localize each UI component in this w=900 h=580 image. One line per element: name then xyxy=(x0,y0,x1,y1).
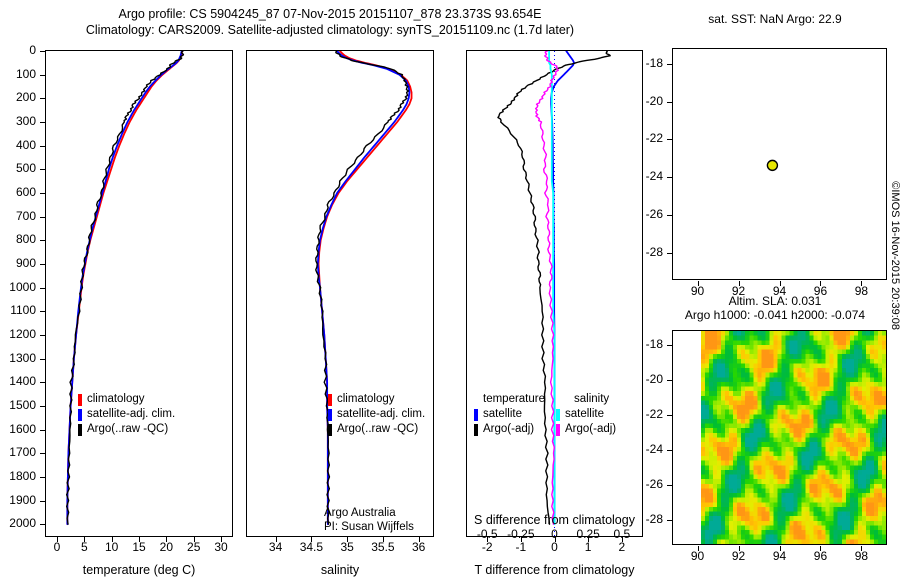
y-tick-label: 1700 xyxy=(0,445,36,459)
location-map-panel xyxy=(672,48,887,280)
y-tick-label: -24 xyxy=(623,169,663,183)
note-line-1: Argo Australia xyxy=(324,506,414,520)
sla-title-line-1: Altim. SLA: 0.031 xyxy=(665,294,885,308)
y-tick xyxy=(40,406,45,407)
y-tick-label: -28 xyxy=(623,245,663,259)
y-tick-label: 1400 xyxy=(0,374,36,388)
y-tick xyxy=(667,215,672,216)
y-tick xyxy=(667,450,672,451)
y-tick xyxy=(667,177,672,178)
y-tick-label: 600 xyxy=(0,185,36,199)
x-tick-label-top: 0.5 xyxy=(596,527,648,541)
legend-swatch xyxy=(328,424,332,436)
legend-entry-salinity: satellite xyxy=(556,407,604,422)
legend-entry: Argo(..raw -QC) xyxy=(328,422,425,437)
legend-swatch xyxy=(328,409,332,421)
legend-swatch xyxy=(474,424,478,436)
y-tick-label: -18 xyxy=(623,56,663,70)
y-tick-label: 900 xyxy=(0,256,36,270)
legend-label: Argo(..raw -QC) xyxy=(87,422,168,437)
y-tick-label: 500 xyxy=(0,161,36,175)
y-tick-label: -28 xyxy=(623,512,663,526)
legend-entry: Argo(..raw -QC) xyxy=(78,422,175,437)
y-tick xyxy=(667,345,672,346)
legend-entry: satellitesatellite xyxy=(474,407,616,422)
x-tick-label: 36 xyxy=(393,540,445,554)
y-tick xyxy=(40,311,45,312)
legend-entry-temperature: Argo(-adj) xyxy=(474,422,556,437)
legend-label: Argo(-adj) xyxy=(565,422,616,437)
difference-legend: temperaturesalinitysatellitesatelliteArg… xyxy=(474,392,616,437)
y-tick-label: 0 xyxy=(0,43,36,57)
y-tick xyxy=(40,524,45,525)
y-tick xyxy=(40,382,45,383)
y-tick xyxy=(667,64,672,65)
title-line-2: Climatology: CARS2009. Satellite-adjuste… xyxy=(0,22,660,38)
legend-heading-temperature: temperature xyxy=(474,392,565,407)
y-tick xyxy=(40,335,45,336)
y-tick xyxy=(40,169,45,170)
y-tick-label: 200 xyxy=(0,90,36,104)
y-tick-label: 1500 xyxy=(0,398,36,412)
legend-headings: temperaturesalinity xyxy=(474,392,616,407)
y-tick xyxy=(40,122,45,123)
temperature-profile-plot xyxy=(46,51,232,536)
legend-swatch xyxy=(556,409,560,421)
legend-label: climatology xyxy=(337,392,395,407)
y-tick xyxy=(40,217,45,218)
y-tick-label: 1800 xyxy=(0,469,36,483)
y-tick xyxy=(40,193,45,194)
y-tick-label: 1600 xyxy=(0,422,36,436)
y-tick-label: 1200 xyxy=(0,327,36,341)
y-tick xyxy=(40,430,45,431)
legend-swatch xyxy=(78,394,82,406)
y-tick-label: 300 xyxy=(0,114,36,128)
x-tick-label: 2 xyxy=(596,540,648,554)
legend-entry: Argo(-adj)Argo(-adj) xyxy=(474,422,616,437)
y-tick xyxy=(40,501,45,502)
y-tick-label: -26 xyxy=(623,207,663,221)
sla-title-line-2: Argo h1000: -0.041 h2000: -0.074 xyxy=(665,308,885,322)
y-tick-label: -22 xyxy=(623,407,663,421)
legend-swatch xyxy=(556,424,560,436)
y-tick xyxy=(667,380,672,381)
y-tick xyxy=(667,253,672,254)
sla-title: Altim. SLA: 0.031 Argo h1000: -0.041 h20… xyxy=(665,294,885,322)
legend-entry-temperature: satellite xyxy=(474,407,556,422)
legend-swatch xyxy=(474,409,478,421)
y-tick-label: 1300 xyxy=(0,351,36,365)
temperature-difference-axis-title: T difference from climatology xyxy=(456,563,653,577)
sla-heatmap-panel xyxy=(672,330,887,545)
y-tick xyxy=(40,75,45,76)
legend-swatch xyxy=(78,409,82,421)
y-tick-label: -20 xyxy=(623,94,663,108)
y-tick xyxy=(40,477,45,478)
y-tick xyxy=(40,146,45,147)
legend-entry: climatology xyxy=(328,392,425,407)
sla-heatmap-plot xyxy=(673,331,886,544)
y-tick xyxy=(40,264,45,265)
y-tick-label: 700 xyxy=(0,209,36,223)
legend-label: satellite xyxy=(565,407,604,422)
y-tick-label: -18 xyxy=(623,337,663,351)
page-title: Argo profile: CS 5904245_87 07-Nov-2015 … xyxy=(0,6,660,38)
y-tick xyxy=(40,240,45,241)
difference-profile-panel xyxy=(466,50,643,537)
title-line-1: Argo profile: CS 5904245_87 07-Nov-2015 … xyxy=(0,6,660,22)
x-tick-label: 30 xyxy=(195,540,247,554)
y-tick-label: -24 xyxy=(623,442,663,456)
x-tick-label: 98 xyxy=(835,549,887,563)
y-tick-label: 1100 xyxy=(0,303,36,317)
y-tick-label: 400 xyxy=(0,138,36,152)
legend-label: Argo(-adj) xyxy=(483,422,534,437)
legend-heading-salinity: salinity xyxy=(565,392,609,407)
y-tick xyxy=(667,415,672,416)
y-tick-label: -22 xyxy=(623,131,663,145)
y-tick xyxy=(40,453,45,454)
y-tick xyxy=(40,98,45,99)
legend-entry-salinity: Argo(-adj) xyxy=(556,422,616,437)
location-map-plot xyxy=(673,49,886,279)
legend-swatch xyxy=(78,424,82,436)
legend-label: satellite-adj. clim. xyxy=(337,407,425,422)
legend-swatch xyxy=(328,394,332,406)
salinity-profile-plot xyxy=(247,51,433,536)
y-tick-label: 2000 xyxy=(0,516,36,530)
legend-entry: satellite-adj. clim. xyxy=(328,407,425,422)
legend-label: climatology xyxy=(87,392,145,407)
difference-profile-plot xyxy=(467,51,642,536)
argo-australia-note: Argo Australia PI: Susan Wijffels xyxy=(324,506,414,534)
copyright-label: ©IMOS 16-Nov-2015 20:39:08 xyxy=(889,181,900,330)
legend-entry: satellite-adj. clim. xyxy=(78,407,175,422)
note-line-2: PI: Susan Wijffels xyxy=(324,520,414,534)
y-tick-label: -26 xyxy=(623,477,663,491)
salinity-axis-title: salinity xyxy=(246,563,434,577)
legend-entry: climatology xyxy=(78,392,175,407)
salinity-profile-panel xyxy=(246,50,434,537)
y-tick xyxy=(40,51,45,52)
legend-label: Argo(..raw -QC) xyxy=(337,422,418,437)
y-tick-label: 100 xyxy=(0,67,36,81)
temperature-legend: climatologysatellite-adj. clim.Argo(..ra… xyxy=(78,392,175,437)
y-tick-label: -20 xyxy=(623,372,663,386)
y-tick xyxy=(667,102,672,103)
map-title: sat. SST: NaN Argo: 22.9 xyxy=(665,12,885,26)
temperature-axis-title: temperature (deg C) xyxy=(45,563,233,577)
y-tick-label: 1900 xyxy=(0,493,36,507)
y-tick xyxy=(667,520,672,521)
legend-label: satellite xyxy=(483,407,522,422)
y-tick-label: 800 xyxy=(0,232,36,246)
y-tick-label: 1000 xyxy=(0,280,36,294)
y-tick xyxy=(667,139,672,140)
legend-label: satellite-adj. clim. xyxy=(87,407,175,422)
salinity-legend: climatologysatellite-adj. clim.Argo(..ra… xyxy=(328,392,425,437)
temperature-profile-panel xyxy=(45,50,233,537)
y-tick xyxy=(667,485,672,486)
y-tick xyxy=(40,288,45,289)
y-tick xyxy=(40,359,45,360)
